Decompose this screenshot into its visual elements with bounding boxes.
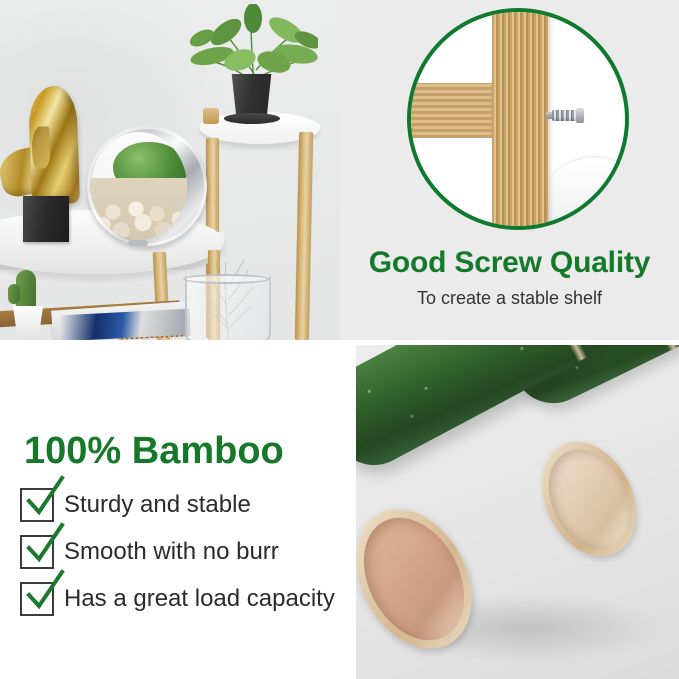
black-cube-base xyxy=(23,196,69,242)
bamboo-post xyxy=(492,8,548,230)
white-shelf-edge xyxy=(539,158,629,230)
glass-vase-rim xyxy=(183,274,269,284)
feature-label: Has a great load capacity xyxy=(64,585,335,613)
terrarium-metal-ring xyxy=(87,126,207,246)
check-icon xyxy=(25,528,65,570)
checkbox-checked[interactable] xyxy=(20,535,54,569)
screw-quality-panel: Good Screw Quality To create a stable sh… xyxy=(340,0,679,340)
screw-closeup-circle xyxy=(407,8,629,230)
list-item: Sturdy and stable xyxy=(20,488,350,522)
feature-list: Sturdy and stable Smooth with no burr Ha… xyxy=(20,488,350,629)
terrarium-foot xyxy=(128,240,148,246)
glass-vase xyxy=(185,276,271,340)
feature-label: Sturdy and stable xyxy=(64,491,251,519)
round-silver-terrarium xyxy=(87,126,207,246)
plant-pot-saucer xyxy=(224,113,280,124)
bamboo-features-panel: 100% Bamboo Sturdy and stable Smooth wit… xyxy=(0,340,356,679)
black-plant-pot xyxy=(229,74,274,116)
check-icon xyxy=(25,481,65,523)
gold-face-sculpture xyxy=(28,85,80,205)
screw-quality-subtitle: To create a stable shelf xyxy=(340,288,679,309)
bamboo-title: 100% Bamboo xyxy=(24,430,284,473)
checkbox-checked[interactable] xyxy=(20,582,54,616)
checkbox-checked[interactable] xyxy=(20,488,54,522)
list-item: Smooth with no burr xyxy=(20,535,350,569)
infographic-page: Good Screw Quality To create a stable sh… xyxy=(0,0,679,679)
screw-head xyxy=(576,108,584,123)
bamboo-cross-arm xyxy=(411,83,500,139)
bamboo-leg-cap xyxy=(203,108,219,124)
check-icon xyxy=(25,575,65,617)
list-item: Has a great load capacity xyxy=(20,582,350,616)
bamboo-culms-photo xyxy=(356,345,679,679)
plant-stand-lifestyle-photo xyxy=(0,0,340,340)
screw-quality-title: Good Screw Quality xyxy=(340,246,679,280)
feature-label: Smooth with no burr xyxy=(64,538,279,566)
metal-screw xyxy=(546,108,588,123)
